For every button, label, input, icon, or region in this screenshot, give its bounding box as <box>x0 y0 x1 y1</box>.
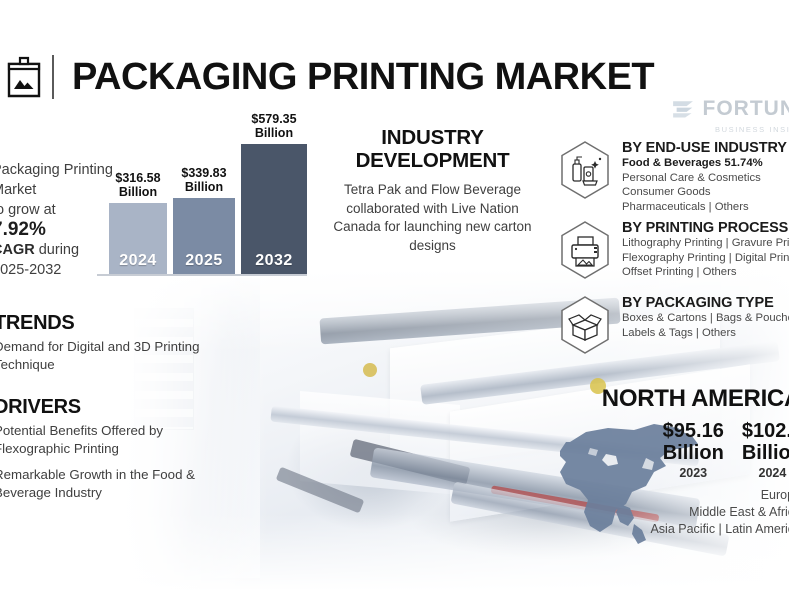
segment-end-use-title: BY END-USE INDUSTRY <box>622 140 787 156</box>
trends-title: TRENDS <box>0 312 204 335</box>
industry-development-block: INDUSTRYDEVELOPMENT Tetra Pak and Flow B… <box>325 126 540 255</box>
bar-group-2032: $579.35Billion 2032 <box>241 113 307 274</box>
cagr-label: CAGR <box>0 242 35 258</box>
header: PACKAGING PRINTING MARKET FORTUNE BUSINE… <box>0 44 789 110</box>
header-divider <box>52 55 54 99</box>
carton-image-icon <box>4 54 44 100</box>
industry-development-body: Tetra Pak and Flow Beverage collaborated… <box>325 181 540 255</box>
segment-printing-process-text: BY PRINTING PROCESS Lithography Printing… <box>622 220 789 280</box>
segment-printing-process-line-1: Flexography Printing | Digital Printing <box>622 251 789 266</box>
segment-printing-process-line-2: Offset Printing | Others <box>622 265 789 280</box>
region-line-2: Middle East & Africa <box>650 504 789 521</box>
bar-2032: 2032 <box>241 144 307 274</box>
bar-group-2025: $339.83Billion 2025 <box>173 167 235 274</box>
cosmetics-bottles-icon <box>558 140 612 200</box>
drivers-body-2: Remarkable Growth in the Food & Beverage… <box>0 466 204 501</box>
north-america-title: NORTH AMERICA <box>602 385 789 413</box>
trends-block: TRENDS Demand for Digital and 3D Printin… <box>0 312 204 382</box>
bar-year-2025: 2025 <box>185 252 223 270</box>
na-value-2024: $102.5Billion 2024 <box>742 420 789 480</box>
logo-wordmark: FORTUNE <box>703 97 789 121</box>
open-box-icon <box>558 295 612 355</box>
infographic-page: PACKAGING PRINTING MARKET FORTUNE BUSINE… <box>0 0 789 591</box>
drivers-block: DRIVERS Potential Benefits Offered by Fl… <box>0 396 204 510</box>
segment-packaging-type: BY PACKAGING TYPE Boxes & Cartons | Bags… <box>558 295 789 355</box>
drivers-title: DRIVERS <box>0 396 204 419</box>
bar-2024: 2024 <box>109 203 167 274</box>
industry-development-title: INDUSTRYDEVELOPMENT <box>325 126 540 172</box>
printer-icon <box>558 220 612 280</box>
bar-year-2032: 2032 <box>255 252 293 270</box>
north-america-values: $95.16Billion 2023 $102.5Billion 2024 <box>663 420 789 480</box>
bar-year-2024: 2024 <box>119 252 157 270</box>
during-text: during <box>35 242 79 258</box>
na-year-2023: 2023 <box>663 466 724 480</box>
market-size-bar-chart: $316.58Billion 2024 $339.83Billion 2025 … <box>97 132 307 284</box>
segment-end-use-industry: BY END-USE INDUSTRY Food & Beverages 51.… <box>558 140 787 214</box>
segment-packaging-type-text: BY PACKAGING TYPE Boxes & Cartons | Bags… <box>622 295 789 340</box>
regions-list: Europe Middle East & Africa Asia Pacific… <box>650 487 789 538</box>
segment-end-use-line-2: Consumer Goods <box>622 185 787 200</box>
fortune-mark-icon <box>671 94 697 124</box>
region-line-3: Asia Pacific | Latin America <box>650 521 789 538</box>
bar-label-2025: $339.83Billion <box>181 167 226 194</box>
segment-packaging-type-line-1: Labels & Tags | Others <box>622 326 789 341</box>
bar-label-2032: $579.35Billion <box>251 113 296 140</box>
bar-2025: 2025 <box>173 198 235 274</box>
segment-packaging-type-line-0: Boxes & Cartons | Bags & Pouches <box>622 311 789 326</box>
segment-printing-process: BY PRINTING PROCESS Lithography Printing… <box>558 220 789 280</box>
segment-packaging-type-title: BY PACKAGING TYPE <box>622 295 789 311</box>
fortune-business-insights-logo: FORTUNE BUSINESS INSIGHTS <box>671 94 789 134</box>
na-value-2023: $95.16Billion 2023 <box>663 420 724 480</box>
region-line-1: Europe <box>650 487 789 504</box>
bar-group-2024: $316.58Billion 2024 <box>109 172 167 274</box>
page-title: PACKAGING PRINTING MARKET <box>72 56 654 99</box>
na-year-2024: 2024 <box>742 466 789 480</box>
segment-printing-process-title: BY PRINTING PROCESS <box>622 220 789 236</box>
segment-end-use-text: BY END-USE INDUSTRY Food & Beverages 51.… <box>622 140 787 214</box>
segment-printing-process-line-0: Lithography Printing | Gravure Printing <box>622 236 789 251</box>
drivers-body-1: Potential Benefits Offered by Flexograph… <box>0 422 204 457</box>
bar-label-2024: $316.58Billion <box>115 172 160 199</box>
segment-end-use-line-1: Personal Care & Cosmetics <box>622 171 787 186</box>
trends-body: Demand for Digital and 3D Printing Techn… <box>0 338 204 373</box>
segment-end-use-line-3: Pharmaceuticals | Others <box>622 200 787 215</box>
logo-tagline: BUSINESS INSIGHTS <box>715 125 789 134</box>
chart-baseline <box>97 274 307 276</box>
segment-end-use-line-0: Food & Beverages 51.74% <box>622 156 787 171</box>
